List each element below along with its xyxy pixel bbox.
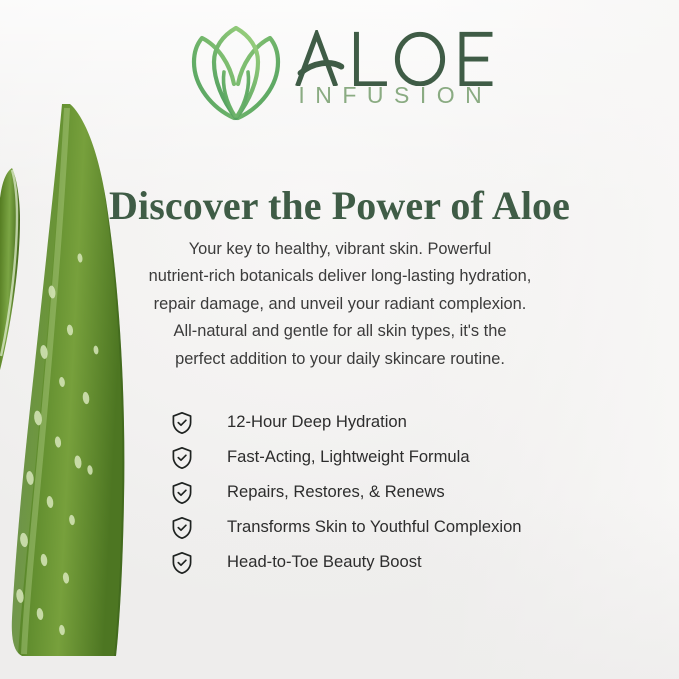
feature-label: 12-Hour Deep Hydration [227, 414, 407, 431]
shield-check-icon [170, 411, 194, 435]
body-line: Your key to healthy, vibrant skin. Power… [98, 236, 582, 263]
feature-label: Fast-Acting, Lightweight Formula [227, 449, 470, 466]
feature-label: Repairs, Restores, & Renews [227, 484, 445, 501]
brand-logo: INFUSION [0, 24, 679, 128]
shield-check-icon [170, 551, 194, 575]
shield-check-icon [170, 516, 194, 540]
feature-list: 12-Hour Deep Hydration Fast-Acting, Ligh… [170, 405, 610, 580]
shield-check-icon [170, 481, 194, 505]
aloe-wordmark [294, 30, 494, 86]
thumb-with-nail [553, 587, 607, 642]
body-line: repair damage, and unveil your radiant c… [98, 291, 582, 318]
list-item: Fast-Acting, Lightweight Formula [170, 440, 610, 475]
body-line: nutrient-rich botanicals deliver long-la… [98, 263, 582, 290]
body-paragraph: Your key to healthy, vibrant skin. Power… [98, 236, 582, 373]
product-banner: INFUSION Discover the Power of Aloe Your… [0, 0, 679, 679]
list-item: Head-to-Toe Beauty Boost [170, 545, 610, 580]
body-line: All-natural and gentle for all skin type… [98, 318, 582, 345]
page-title: Discover the Power of Aloe [0, 184, 679, 227]
feature-label: Transforms Skin to Youthful Complexion [227, 519, 522, 536]
list-item: 12-Hour Deep Hydration [170, 405, 610, 440]
body-line: perfect addition to your daily skincare … [98, 346, 582, 373]
brand-wordmark: INFUSION [294, 24, 494, 107]
list-item: Transforms Skin to Youthful Complexion [170, 510, 610, 545]
brand-subtitle: INFUSION [294, 84, 494, 107]
feature-label: Head-to-Toe Beauty Boost [227, 554, 422, 571]
aloe-lotus-leaf-mark [184, 24, 288, 128]
shield-check-icon [170, 446, 194, 470]
list-item: Repairs, Restores, & Renews [170, 475, 610, 510]
